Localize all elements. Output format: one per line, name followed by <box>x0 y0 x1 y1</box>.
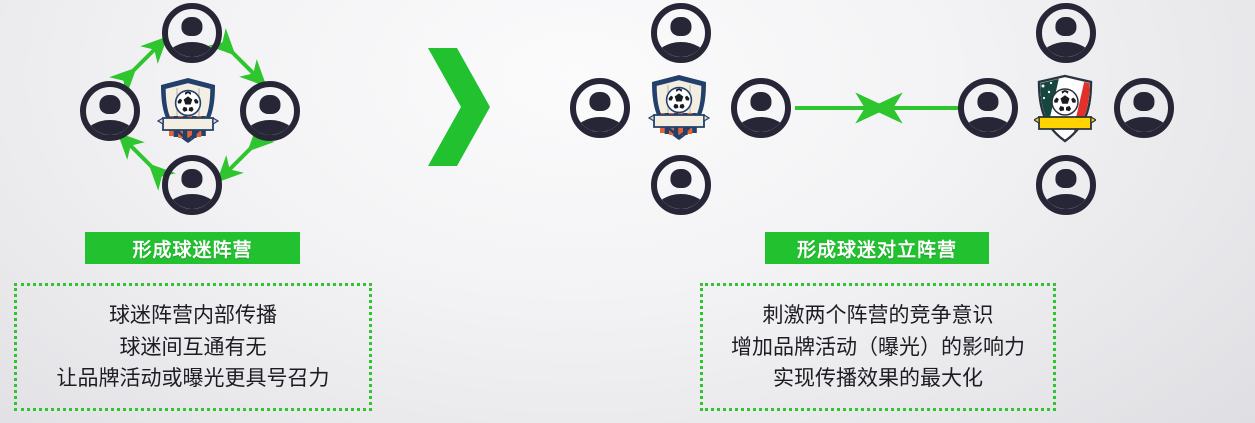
avatar-body-icon <box>736 117 786 138</box>
avatar-body-icon <box>167 42 217 63</box>
avatar-camp-b-right <box>1114 78 1174 138</box>
note-line: 让品牌活动或曝光更具号召力 <box>57 366 330 391</box>
note-line: 球迷间互通有无 <box>120 335 267 360</box>
avatar-body-icon <box>963 117 1013 138</box>
note-line: 刺激两个阵营的竞争意识 <box>763 303 994 328</box>
avatar-camp-b-bottom <box>1036 155 1096 215</box>
avatar-head-icon <box>750 92 771 111</box>
avatar-head-icon <box>977 92 998 111</box>
soccer-shield-green-red-yellow-icon <box>1034 74 1096 144</box>
note-line: 球迷阵营内部传播 <box>109 303 277 328</box>
soccer-shield-navy-orange-icon <box>648 73 710 143</box>
avatar-left-group-right <box>240 81 300 141</box>
avatar-body-icon <box>575 117 625 138</box>
avatar-head-icon <box>181 17 202 36</box>
avatar-body-icon <box>1041 194 1091 215</box>
avatar-left-group-top <box>162 3 222 63</box>
avatar-body-icon <box>1119 117 1169 138</box>
notes-box-right: 刺激两个阵营的竞争意识 增加品牌活动（曝光）的影响力 实现传播效果的最大化 <box>700 283 1056 411</box>
slide-canvas: 形成球迷阵营 形成球迷对立阵营 球迷阵营内部传播 球迷间互通有无 让品牌活动或曝… <box>0 0 1255 423</box>
avatar-body-icon <box>656 194 706 215</box>
avatar-body-icon <box>1041 42 1091 63</box>
avatar-head-icon <box>181 169 202 188</box>
avatar-body-icon <box>245 120 295 141</box>
avatar-head-icon <box>670 17 691 36</box>
avatar-body-icon <box>656 42 706 63</box>
avatar-head-icon <box>259 95 280 114</box>
avatar-head-icon <box>1055 17 1076 36</box>
avatar-left-group-left <box>80 81 140 141</box>
note-line: 实现传播效果的最大化 <box>773 366 983 391</box>
avatar-head-icon <box>99 95 120 114</box>
note-line: 增加品牌活动（曝光）的影响力 <box>731 335 1025 360</box>
label-right-group[interactable]: 形成球迷对立阵营 <box>765 232 989 264</box>
chevron-right-icon <box>426 46 492 168</box>
avatar-camp-a-bottom <box>651 155 711 215</box>
avatar-body-icon <box>167 194 217 215</box>
label-left-group[interactable]: 形成球迷阵营 <box>85 232 300 264</box>
avatar-left-group-bottom <box>162 155 222 215</box>
avatar-camp-b-top <box>1036 3 1096 63</box>
avatar-body-icon <box>85 120 135 141</box>
avatar-head-icon <box>589 92 610 111</box>
avatar-head-icon <box>1133 92 1154 111</box>
notes-box-left: 球迷阵营内部传播 球迷间互通有无 让品牌活动或曝光更具号召力 <box>14 283 372 411</box>
avatar-camp-a-left <box>570 78 630 138</box>
avatar-camp-a-right <box>731 78 791 138</box>
avatar-head-icon <box>670 169 691 188</box>
avatar-head-icon <box>1055 169 1076 188</box>
avatar-camp-b-left <box>958 78 1018 138</box>
soccer-shield-navy-orange-icon <box>157 76 219 146</box>
avatar-camp-a-top <box>651 3 711 63</box>
